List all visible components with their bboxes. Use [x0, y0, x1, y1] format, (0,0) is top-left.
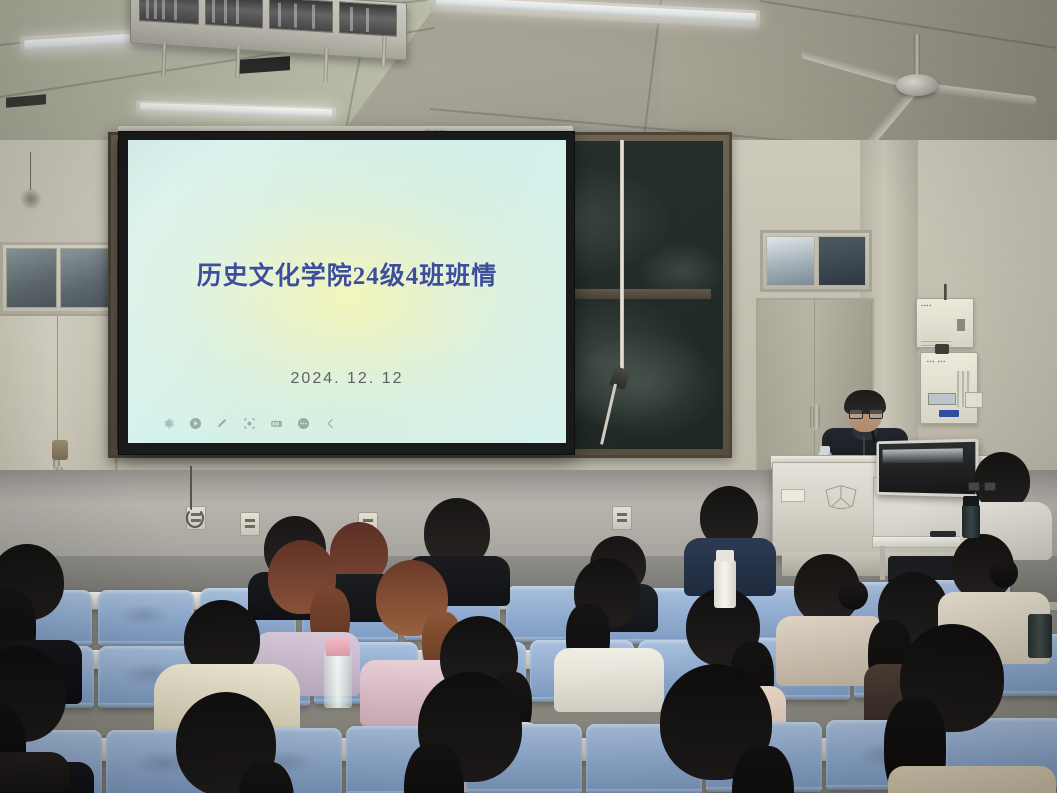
meter-display	[928, 393, 956, 405]
presentation-toolbar[interactable]	[162, 417, 337, 430]
thermos-bottle	[1028, 614, 1052, 658]
more-icon[interactable]	[297, 417, 310, 430]
classroom-photo: ▪▪▪▪ ▪▪▪ ▪▪▪ Meeting 历史文化学院24级4班班情 20	[0, 0, 1057, 793]
presentation-slide: 历史文化学院24级4班班情 2024. 12. 12	[128, 140, 566, 443]
side-table-leg	[880, 546, 885, 580]
ac-vent	[205, 0, 263, 29]
meter-label: ▪▪▪ ▪▪▪	[927, 359, 946, 365]
play-icon[interactable]	[189, 417, 202, 430]
bottle-cap	[716, 550, 734, 562]
wall-outlet	[612, 506, 632, 530]
pen-icon[interactable]	[216, 417, 229, 430]
focus-icon[interactable]	[243, 417, 256, 430]
water-bottle	[714, 560, 736, 608]
ceiling-fan-hub	[896, 74, 938, 96]
door-lock[interactable]	[52, 440, 68, 460]
wire-loop	[186, 508, 204, 528]
transom-pane	[60, 248, 111, 308]
back-chevron-icon[interactable]	[324, 417, 337, 430]
ac-vent	[269, 0, 333, 33]
slides-icon[interactable]	[270, 417, 283, 430]
water-bottle	[324, 652, 352, 708]
remote-control[interactable]	[930, 531, 956, 537]
meter-conduit	[944, 284, 947, 300]
electricity-meter: ▪▪▪ ▪▪▪	[920, 352, 978, 424]
window-pane	[818, 236, 867, 286]
projector-screen-pull-cord[interactable]	[620, 140, 624, 370]
right-transom-window	[760, 230, 872, 292]
ac-vent	[139, 0, 199, 25]
transom-pane	[6, 248, 57, 308]
ac-vent	[339, 1, 397, 37]
settings-icon[interactable]	[162, 417, 175, 430]
slide-date: 2024. 12. 12	[128, 370, 566, 388]
hanging-wire	[190, 466, 192, 510]
panel-switch[interactable]	[957, 319, 965, 331]
meter-indicator	[939, 410, 959, 417]
bottle-cap	[326, 638, 350, 656]
monitor-screen-glow	[883, 448, 963, 463]
university-emblem-icon	[823, 483, 859, 513]
wall-hook	[18, 186, 44, 212]
presenter-glasses	[849, 409, 881, 417]
lectern-plate	[781, 489, 805, 502]
projection-screen: 历史文化学院24级4班班情 2024. 12. 12	[118, 131, 575, 455]
door-transom-window	[0, 242, 116, 314]
panel-label: ▪▪▪▪	[921, 303, 932, 309]
ceiling-fan-rod	[914, 34, 920, 76]
hanging-cord	[30, 152, 31, 190]
electrical-panel-upper: ▪▪▪▪	[916, 298, 974, 348]
thermos-bottle	[962, 504, 980, 538]
podium-monitor[interactable]	[876, 439, 978, 498]
bottle-cap	[963, 496, 979, 506]
slide-title: 历史文化学院24级4班班情	[128, 256, 566, 292]
water-bottle-cap	[820, 446, 830, 454]
wall-outlet	[240, 512, 260, 536]
conduit-junction	[935, 344, 949, 354]
window-pane	[766, 236, 815, 286]
wall-outlet	[965, 392, 983, 408]
fur-collar	[0, 752, 70, 793]
seat[interactable]	[98, 590, 194, 646]
